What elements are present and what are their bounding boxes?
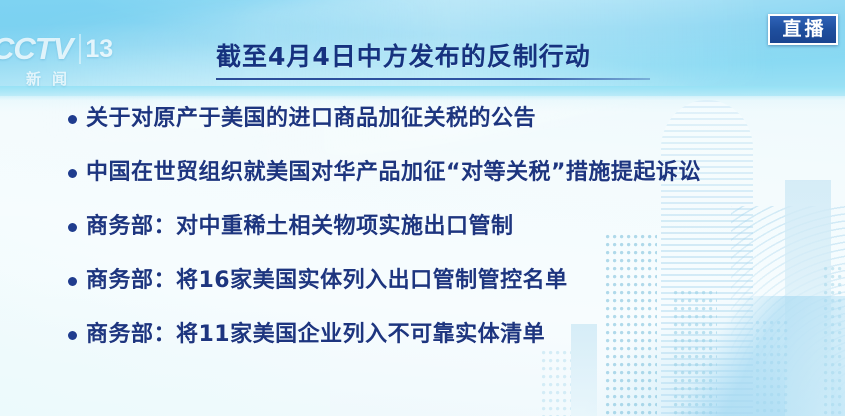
list-item-text: 关于对原产于美国的进口商品加征关税的公告 [86, 104, 536, 134]
list-item-text: 中国在世贸组织就美国对华产品加征“对等关税”措施提起诉讼 [86, 158, 701, 188]
live-badge-label: 直播 [779, 20, 826, 39]
list-item: 商务部：将16家美国实体列入出口管制管控名单 [68, 266, 828, 320]
bullet-dot-icon [68, 169, 77, 178]
live-badge: 直播 [768, 14, 838, 45]
list-item-text: 商务部：对中重稀土相关物项实施出口管制 [86, 212, 514, 242]
list-item: 商务部：将11家美国企业列入不可靠实体清单 [68, 320, 828, 374]
broadcast-screen: CCTV 13 新闻 直播 截至4月4日中方发布的反制行动 关于对原产于美国的进… [0, 0, 845, 416]
title-underline [216, 78, 650, 80]
list-item-text: 商务部：将16家美国实体列入出口管制管控名单 [86, 266, 568, 296]
bullet-list: 关于对原产于美国的进口商品加征关税的公告 中国在世贸组织就美国对华产品加征“对等… [68, 104, 828, 374]
list-item-text: 商务部：将11家美国企业列入不可靠实体清单 [86, 320, 545, 350]
bullet-dot-icon [68, 115, 77, 124]
headline-block: 截至4月4日中方发布的反制行动 [216, 42, 656, 80]
bullet-dot-icon [68, 277, 77, 286]
list-item: 商务部：对中重稀土相关物项实施出口管制 [68, 212, 828, 266]
bullet-dot-icon [68, 331, 77, 340]
page-title: 截至4月4日中方发布的反制行动 [216, 42, 656, 72]
list-item: 关于对原产于美国的进口商品加征关税的公告 [68, 104, 828, 158]
bullet-dot-icon [68, 223, 77, 232]
list-item: 中国在世贸组织就美国对华产品加征“对等关税”措施提起诉讼 [68, 158, 828, 212]
